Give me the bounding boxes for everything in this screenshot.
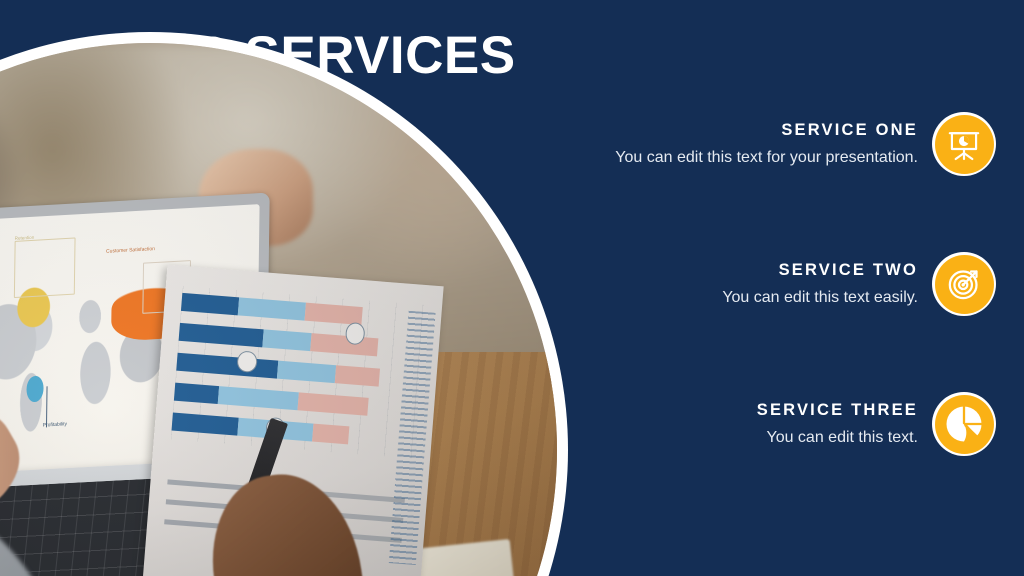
- service-item-one[interactable]: SERVICE ONE You can edit this text for y…: [615, 112, 996, 176]
- presentation-slide: OUR SERVICES We do things better: [0, 0, 1024, 576]
- service-one-icon-badge: [935, 115, 994, 174]
- service-two-icon-badge: [935, 255, 994, 314]
- service-three-text: SERVICE THREE You can edit this text.: [757, 401, 918, 447]
- service-two-title: SERVICE TWO: [722, 261, 918, 280]
- service-three-description: You can edit this text.: [757, 429, 918, 447]
- target-arrow-icon[interactable]: [932, 252, 996, 316]
- photo-map-label-retention: Retention: [15, 235, 35, 241]
- photo-map-label-profitability: Profitability: [43, 420, 67, 427]
- pie-chart-icon[interactable]: [932, 392, 996, 456]
- service-two-description: You can edit this text easily.: [722, 289, 918, 307]
- service-three-title: SERVICE THREE: [757, 401, 918, 420]
- photo-map-callout-box-a: [14, 238, 76, 298]
- business-meeting-photo: Retention Customer Satisfaction Profitab…: [0, 43, 557, 576]
- service-item-three[interactable]: SERVICE THREE You can edit this text.: [757, 392, 996, 456]
- photo-scene: Retention Customer Satisfaction Profitab…: [0, 43, 557, 576]
- service-two-text: SERVICE TWO You can edit this text easil…: [722, 261, 918, 307]
- service-three-icon-badge: [935, 395, 994, 454]
- service-one-title: SERVICE ONE: [615, 121, 918, 140]
- service-item-two[interactable]: SERVICE TWO You can edit this text easil…: [722, 252, 996, 316]
- service-one-description: You can edit this text for your presenta…: [615, 149, 918, 167]
- presentation-chart-icon[interactable]: [932, 112, 996, 176]
- circular-photo-frame: Retention Customer Satisfaction Profitab…: [0, 32, 568, 576]
- service-one-text: SERVICE ONE You can edit this text for y…: [615, 121, 918, 167]
